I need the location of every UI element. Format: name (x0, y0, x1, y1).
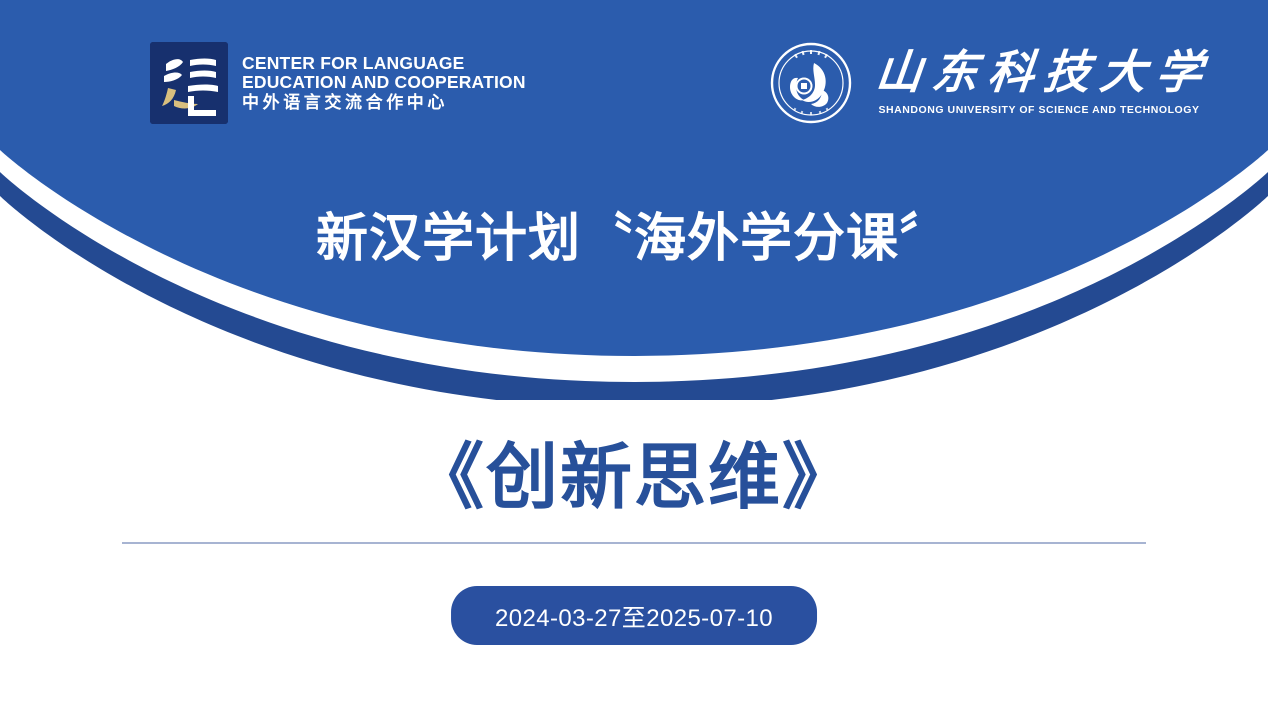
cle-line2: EDUCATION AND COOPERATION (242, 73, 526, 92)
sdust-logo-text: 山东科技大学 SHANDONG UNIVERSITY OF SCIENCE AN… (866, 50, 1212, 116)
cle-logo-mark (150, 42, 228, 124)
sdust-logo: 山东科技大学 SHANDONG UNIVERSITY OF SCIENCE AN… (770, 42, 1212, 124)
divider-line (122, 542, 1146, 544)
date-range-badge: 2024-03-27至2025-07-10 (451, 586, 817, 645)
cle-line-cn: 中外语言交流合作中心 (242, 94, 526, 112)
cle-logo: CENTER FOR LANGUAGE EDUCATION AND COOPER… (150, 42, 526, 124)
title-slide: CENTER FOR LANGUAGE EDUCATION AND COOPER… (0, 0, 1268, 710)
cle-logo-text: CENTER FOR LANGUAGE EDUCATION AND COOPER… (242, 54, 526, 111)
chinese-character-yu-icon (150, 42, 228, 124)
logo-row: CENTER FOR LANGUAGE EDUCATION AND COOPER… (0, 0, 1268, 170)
cle-line1: CENTER FOR LANGUAGE (242, 54, 526, 73)
course-title: 《创新思维》 (0, 418, 1268, 523)
university-seal-icon (770, 42, 852, 124)
program-headline: 新汉学计划〝海外学分课〞 (0, 196, 1268, 271)
sdust-name-en: SHANDONG UNIVERSITY OF SCIENCE AND TECHN… (878, 104, 1199, 116)
sdust-name-cn: 山东科技大学 (864, 50, 1215, 96)
